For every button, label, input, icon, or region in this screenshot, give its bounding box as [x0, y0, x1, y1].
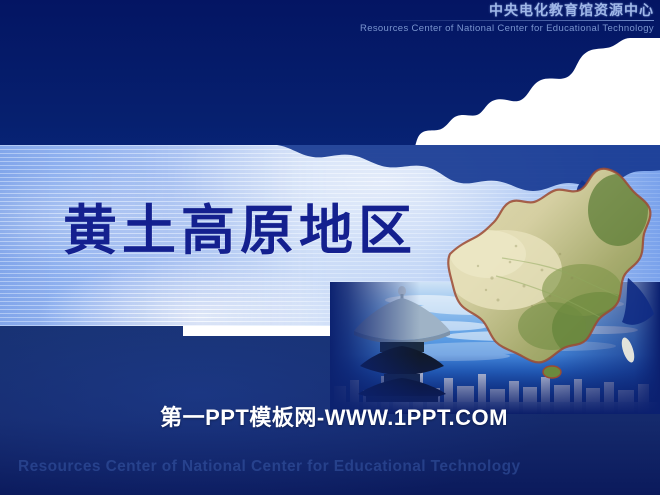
presentation-slide: 中央电化教育馆资源中心 Resources Center of National… — [0, 0, 660, 495]
page-title: 黄土高原地区 — [63, 203, 417, 257]
footer-brand-text: 第一PPT模板网-WWW.1PPT.COM — [0, 400, 660, 432]
header-divider — [371, 20, 654, 21]
header-organization-lockup: 中央电化教育馆资源中心 Resources Center of National… — [360, 3, 654, 34]
footer-watermark-text: Resources Center of National Center for … — [18, 458, 521, 476]
china-satellite-map — [432, 158, 660, 390]
header-org-chinese: 中央电化教育馆资源中心 — [360, 3, 654, 17]
header-org-english: Resources Center of National Center for … — [360, 24, 654, 34]
